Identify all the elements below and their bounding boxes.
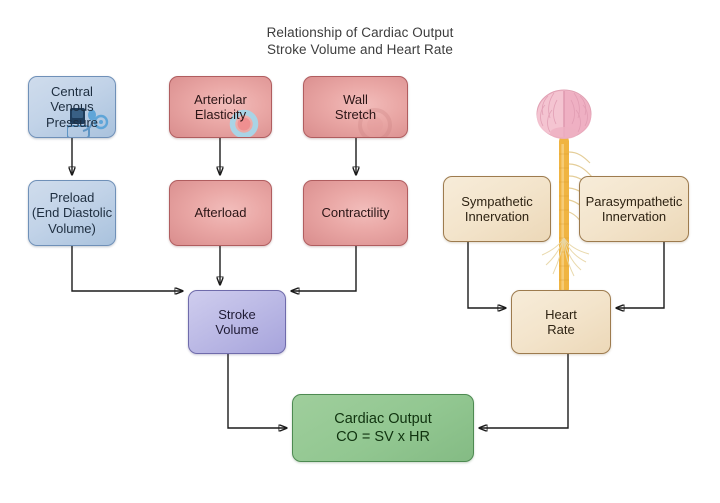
node-central-venous-pressure[interactable]: Central Venous Pressure bbox=[28, 76, 116, 138]
node-label: Wall Stretch bbox=[335, 92, 376, 123]
node-preload[interactable]: Preload (End Diastolic Volume) bbox=[28, 180, 116, 246]
edge-sympathetic-to-heart-rate bbox=[468, 242, 506, 308]
cardiac-output-diagram: Relationship of Cardiac Output Stroke Vo… bbox=[0, 0, 720, 503]
edge-preload-to-stroke-volume bbox=[72, 246, 183, 291]
node-cardiac-output[interactable]: Cardiac Output CO = SV x HR bbox=[292, 394, 474, 462]
node-label: Sympathetic Innervation bbox=[461, 194, 533, 225]
edge-parasympathetic-to-heart-rate bbox=[616, 242, 664, 308]
node-label: Central Venous Pressure bbox=[46, 84, 98, 131]
node-label: Stroke Volume bbox=[215, 307, 258, 338]
edge-contractility-to-stroke-volume bbox=[291, 246, 356, 291]
node-wall-stretch[interactable]: Wall Stretch bbox=[303, 76, 408, 138]
edge-heart-rate-to-cardiac-output bbox=[479, 354, 568, 428]
node-label: Parasympathetic Innervation bbox=[586, 194, 683, 225]
node-label: Preload (End Diastolic Volume) bbox=[32, 190, 112, 237]
node-arteriolar-elasticity[interactable]: Arteriolar Elasticity bbox=[169, 76, 272, 138]
node-label: Heart Rate bbox=[545, 307, 577, 338]
node-label: Cardiac Output CO = SV x HR bbox=[334, 410, 432, 446]
node-sympathetic-innervation[interactable]: Sympathetic Innervation bbox=[443, 176, 551, 242]
node-parasympathetic-innervation[interactable]: Parasympathetic Innervation bbox=[579, 176, 689, 242]
edge-stroke-volume-to-cardiac-output bbox=[228, 354, 287, 428]
node-heart-rate[interactable]: Heart Rate bbox=[511, 290, 611, 354]
diagram-title: Relationship of Cardiac Output Stroke Vo… bbox=[0, 24, 720, 58]
node-label: Afterload bbox=[194, 205, 246, 221]
node-stroke-volume[interactable]: Stroke Volume bbox=[188, 290, 286, 354]
node-label: Contractility bbox=[322, 205, 390, 221]
node-contractility[interactable]: Contractility bbox=[303, 180, 408, 246]
node-label: Arteriolar Elasticity bbox=[194, 92, 247, 123]
node-afterload[interactable]: Afterload bbox=[169, 180, 272, 246]
